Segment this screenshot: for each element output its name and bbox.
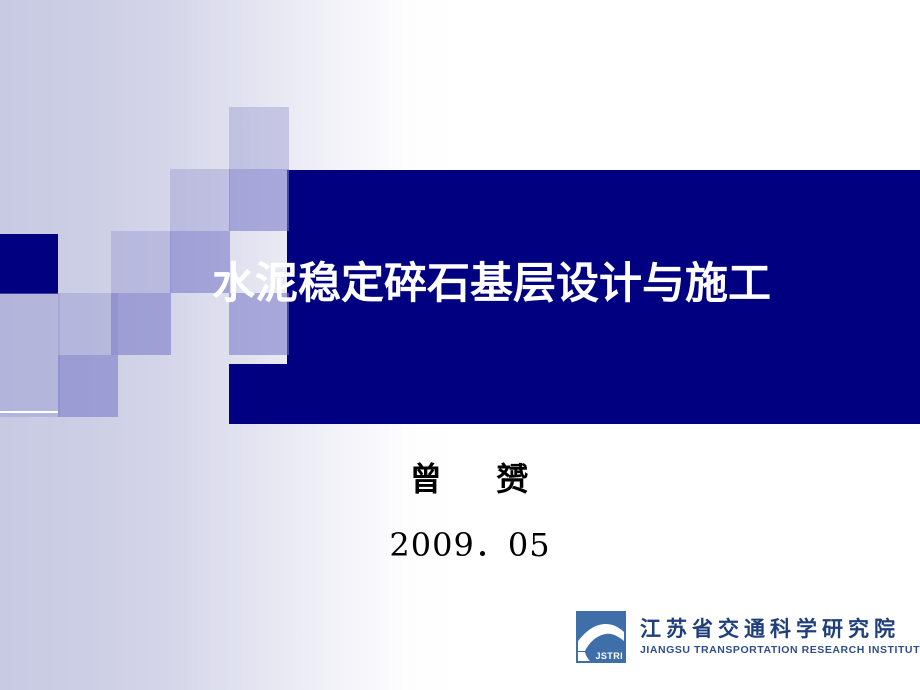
step-square-5 — [111, 231, 171, 293]
step-square-9 — [0, 355, 60, 417]
step-square-7 — [58, 293, 118, 355]
institute-logo: JSTRI 江苏省交通科学研究院 JIANGSU TRANSPORTATION … — [576, 611, 920, 663]
step-square-2 — [229, 169, 289, 231]
title-slide: 水泥稳定碎石基层设计与施工 曾 赟 2009．05 JSTRI 江苏省交通科学研… — [0, 0, 920, 690]
jstri-logo-text: JSTRI — [595, 651, 623, 661]
subtitle-group: 曾 赟 2009．05 — [260, 460, 680, 566]
page-title: 水泥稳定碎石基层设计与施工 — [212, 262, 912, 307]
jstri-logo-icon: JSTRI — [576, 611, 626, 663]
institute-name-cn: 江苏省交通科学研究院 — [640, 618, 920, 641]
navy-accent-block-lower — [229, 364, 289, 424]
step-square-6 — [111, 293, 171, 355]
presenter-name: 曾 赟 — [260, 460, 680, 498]
navy-accent-block-left — [0, 234, 58, 294]
step-square-8 — [58, 355, 118, 417]
step-square-10 — [0, 293, 60, 355]
institute-name-en: JIANGSU TRANSPORTATION RESEARCH INSTITUT… — [640, 644, 920, 656]
institute-name-block: 江苏省交通科学研究院 JIANGSU TRANSPORTATION RESEAR… — [640, 618, 920, 656]
presentation-date: 2009．05 — [260, 520, 680, 566]
step-square-1 — [229, 107, 289, 169]
step-square-3 — [170, 169, 230, 231]
white-divider-rule — [0, 411, 58, 413]
